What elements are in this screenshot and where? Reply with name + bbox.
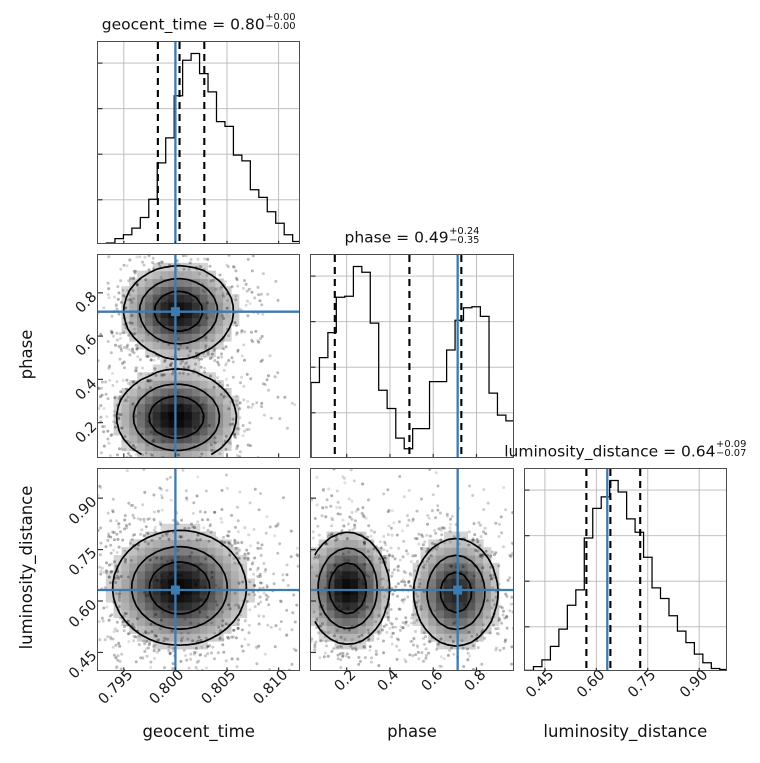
histogram-step [525,480,727,671]
y-ticks [311,276,315,413]
panel-title-uncertainty: +0.09−0.07 [716,440,746,459]
y-ticks [98,63,102,200]
panel-title-text: luminosity_distance = 0.64 [504,442,715,460]
x-axis-label-phase: phase [310,722,513,741]
x-axis-label-luminosity_distance: luminosity_distance [524,722,727,741]
grid [311,255,513,457]
uncertainty-minus: −0.00 [265,22,295,32]
x-tick-label-geocent_time-2: 0.805 [143,667,239,763]
panel-title-text: phase = 0.49 [344,229,448,247]
hist-panel-geocent_time [97,41,300,244]
x-tick-label-geocent_time-1: 0.800 [92,667,188,763]
density-panel-geocent_time-vs-luminosity_distance [97,468,300,671]
x-tick-label-luminosity_distance-3: 0.90 [615,667,711,763]
panel-title-uncertainty: +0.00−0.00 [265,13,295,32]
hist-panel-luminosity_distance [524,468,727,671]
histogram-step [311,267,513,458]
y-ticks [525,490,529,627]
density-panel-phase-vs-luminosity_distance [310,468,513,671]
y-axis-label-phase: phase [18,253,37,456]
x-tick-label-luminosity_distance-2: 0.75 [564,667,660,763]
panel-title-phase: phase = 0.49+0.24−0.35 [240,227,583,247]
x-axis-label-geocent_time: geocent_time [97,722,300,741]
uncertainty-minus: −0.07 [716,449,746,459]
panel-title-uncertainty: +0.24−0.35 [449,227,479,246]
y-axis-label-luminosity_distance: luminosity_distance [18,466,37,669]
corner-plot-figure: geocent_time = 0.80+0.00−0.00phase = 0.4… [0,0,760,760]
histogram-step [98,54,300,245]
density-panel-geocent_time-vs-phase [97,254,300,457]
x-tick-label-luminosity_distance-1: 0.60 [512,667,608,763]
hist-panel-phase [310,254,513,457]
panel-title-luminosity_distance: luminosity_distance = 0.64+0.09−0.07 [454,441,760,461]
x-ticks [124,667,279,671]
x-ticks [545,667,699,670]
panel-title-geocent_time: geocent_time = 0.80+0.00−0.00 [27,14,370,34]
panel-title-text: geocent_time = 0.80 [102,16,265,34]
uncertainty-minus: −0.35 [449,236,479,246]
